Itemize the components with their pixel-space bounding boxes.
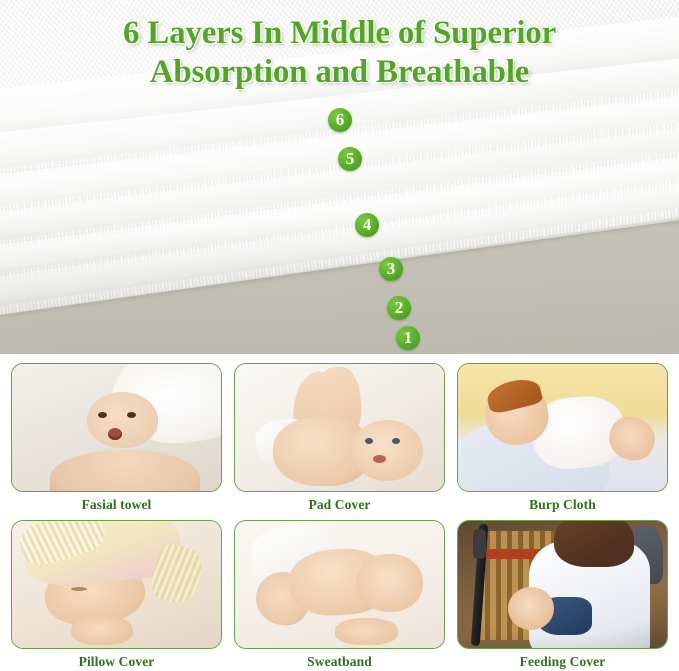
hero-banner: 6 Layers In Middle of Superior Absorptio… xyxy=(0,0,679,354)
use-case-caption-pillow-cover: Pillow Cover xyxy=(11,654,222,670)
baby-eye-right xyxy=(392,438,400,444)
baby-head xyxy=(352,420,423,481)
use-case-caption-feeding-cover: Feeding Cover xyxy=(457,654,668,670)
use-case-cell-burp-cloth: Burp Cloth xyxy=(457,363,668,513)
use-case-caption-sweatband: Sweatband xyxy=(234,654,445,670)
use-case-grid: Fasial towel Pad Cover xyxy=(0,354,679,671)
use-case-card-pillow-cover[interactable] xyxy=(11,520,222,649)
photo-mother-feeding-baby xyxy=(458,521,667,648)
photo-baby-holding-feet xyxy=(235,364,444,491)
baby-closed-eye xyxy=(71,587,87,591)
use-case-caption-burp-cloth: Burp Cloth xyxy=(457,497,668,513)
use-case-card-burp-cloth[interactable] xyxy=(457,363,668,492)
hero-title: 6 Layers In Middle of Superior Absorptio… xyxy=(0,14,679,92)
layer-badge-2: 2 xyxy=(387,296,411,320)
layer-badge-1: 1 xyxy=(396,326,420,350)
baby-mouth xyxy=(108,428,122,440)
use-case-cell-sweatband: Sweatband xyxy=(234,520,445,670)
photo-vignette xyxy=(458,521,667,648)
baby-eye-left xyxy=(365,438,373,444)
layer-badge-5: 5 xyxy=(338,147,362,171)
photo-sleeping-baby-on-tummy xyxy=(235,521,444,648)
photo-newborn-on-yellow-backdrop xyxy=(458,364,667,491)
layer-badge-4: 4 xyxy=(355,213,379,237)
photo-sleeping-baby-in-knit-hat xyxy=(12,521,221,648)
baby-head xyxy=(356,554,423,612)
layer-badge-3: 3 xyxy=(379,257,403,281)
layer-badge-6: 6 xyxy=(328,108,352,132)
use-case-cell-feeding-cover: Feeding Cover xyxy=(457,520,668,670)
baby-hand xyxy=(71,615,134,645)
use-case-card-pad-cover[interactable] xyxy=(234,363,445,492)
photo-baby-in-hooded-towel xyxy=(12,364,221,491)
use-case-card-feeding-cover[interactable] xyxy=(457,520,668,649)
baby-arm xyxy=(335,618,398,646)
baby-face-shape xyxy=(87,392,158,448)
use-case-caption-fasial-towel: Fasial towel xyxy=(11,497,222,513)
use-case-caption-pad-cover: Pad Cover xyxy=(234,497,445,513)
baby-body-shape xyxy=(50,450,200,492)
use-case-card-fasial-towel[interactable] xyxy=(11,363,222,492)
use-case-cell-fasial-towel: Fasial towel xyxy=(11,363,222,513)
use-case-cell-pillow-cover: Pillow Cover xyxy=(11,520,222,670)
use-case-cell-pad-cover: Pad Cover xyxy=(234,363,445,513)
use-case-card-sweatband[interactable] xyxy=(234,520,445,649)
